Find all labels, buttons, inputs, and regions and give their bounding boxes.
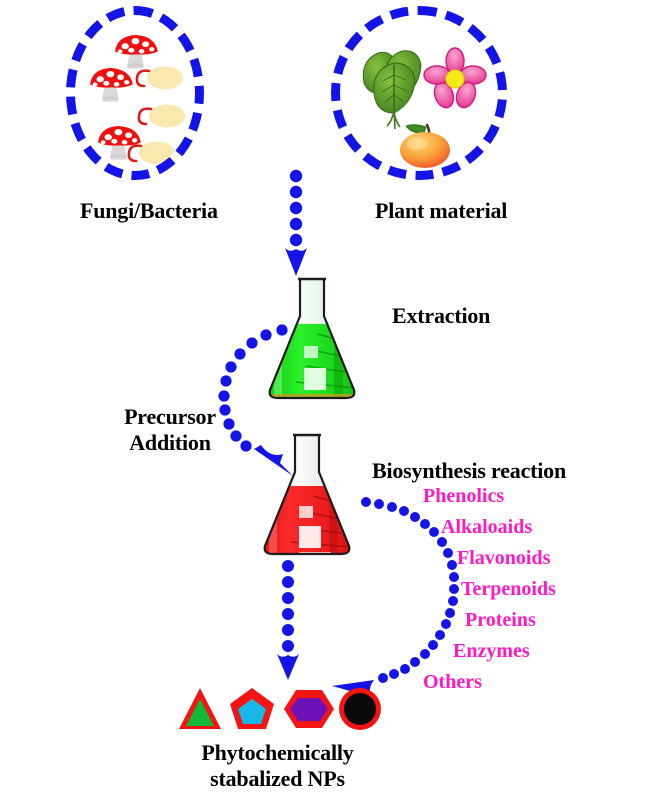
fungi-bacteria-circle: [66, 6, 204, 180]
orange-fruit-icon: [400, 125, 450, 168]
arrow-sources-to-extraction: [276, 168, 316, 278]
mushroom-icon: [90, 68, 133, 102]
flower-icon: [424, 48, 486, 110]
phytochemical-item: Terpenoids: [461, 579, 645, 599]
bacterium-icon: [139, 105, 185, 128]
phytochemical-item: Enzymes: [453, 641, 645, 661]
plant-material-circle: [331, 6, 507, 180]
mushroom-icon: [98, 126, 141, 160]
phytochemical-item: Phenolics: [423, 486, 645, 506]
hexagon-nanoparticle: [284, 690, 334, 728]
precursor-addition-label: PrecursorAddition: [110, 404, 230, 455]
biosynthesis-flask-icon: [255, 428, 370, 558]
mushroom-icon: [115, 35, 158, 69]
plant-material-label: Plant material: [375, 198, 507, 224]
nanoparticle-row: [178, 686, 373, 734]
circle-nanoparticle: [339, 688, 381, 730]
pentagon-nanoparticle: [230, 688, 274, 729]
phytochemical-list: Phenolics Alkaloaids Flavonoids Terpenoi…: [415, 486, 645, 703]
fungi-bacteria-contents: [75, 15, 195, 171]
bacterium-icon: [137, 67, 183, 90]
plant-material-artwork: [340, 15, 498, 171]
phytochemical-item: Flavonoids: [457, 548, 645, 568]
leaves-icon: [363, 51, 421, 129]
nanoparticle-product-label: Phytochemicallystabalized NPs: [150, 740, 405, 791]
diagram-canvas: Fungi/Bacteria: [0, 0, 650, 805]
fungi-bacteria-artwork: [75, 15, 195, 171]
phytochemical-item: Others: [423, 672, 645, 692]
biosynthesis-reaction-label: Biosynthesis reaction: [372, 458, 566, 484]
extraction-flask-icon: [260, 272, 375, 402]
bacterium-icon: [129, 142, 175, 165]
arrow-biosynthesis-down: [268, 558, 308, 683]
fungi-bacteria-label: Fungi/Bacteria: [80, 198, 218, 224]
phytochemical-item: Proteins: [465, 610, 645, 630]
plant-material-contents: [340, 15, 498, 171]
triangle-nanoparticle: [179, 688, 221, 729]
extraction-label: Extraction: [392, 303, 490, 329]
phytochemical-item: Alkaloaids: [441, 517, 645, 537]
